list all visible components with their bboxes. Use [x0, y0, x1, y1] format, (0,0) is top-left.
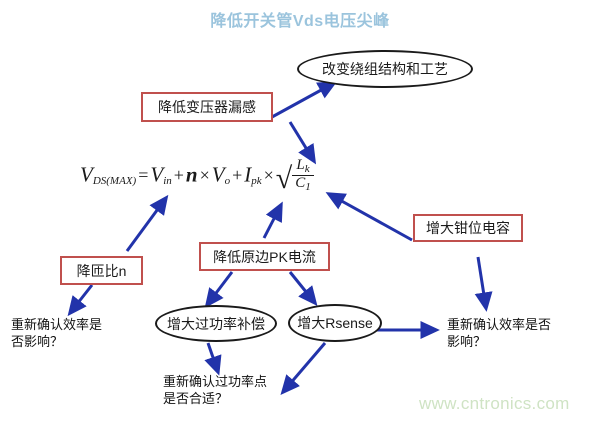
formula-term2: V: [212, 162, 225, 186]
node-increase-clamp-cap-label: 增大钳位电容: [426, 218, 510, 238]
text-recheck-efficiency-right: 重新确认效率是否影响？: [447, 316, 551, 350]
formula-term1: V: [150, 162, 163, 186]
formula-lhs-sub: DS(MAX): [93, 175, 136, 187]
arrow-clampcap-to-recheck-right: [478, 257, 486, 308]
formula-term1-sub: in: [163, 175, 172, 187]
formula-frac-numerator: Lk: [292, 158, 314, 176]
formula-term3-sub: pk: [251, 175, 261, 187]
text-recheck-opp-point: 重新确认过功率点是否合适？: [163, 373, 267, 407]
formula-fraction: LkC1: [292, 158, 314, 194]
node-increase-opp[interactable]: 增大过功率补偿: [155, 305, 277, 342]
diagram-title: 降低开关管Vds电压尖峰: [170, 8, 430, 30]
watermark: www.cntronics.com: [419, 394, 570, 414]
node-reduce-leakage-label: 降低变压器漏感: [158, 97, 256, 117]
node-reduce-leakage[interactable]: 降低变压器漏感: [141, 92, 273, 122]
formula-vds-max: VDS(MAX)=Vin+n×Vo+Ipk×√LkC1: [80, 160, 314, 196]
arrow-pk-to-ipk: [264, 205, 281, 238]
node-reduce-turns-ratio[interactable]: 降匝比n: [60, 256, 143, 285]
formula-radical-icon: √: [276, 164, 292, 194]
formula-lhs: V: [80, 162, 93, 186]
formula-times1: ×: [198, 165, 212, 185]
formula-frac-num-sub: k: [305, 163, 310, 175]
formula-equals: =: [136, 165, 150, 185]
arrow-leakage-to-winding: [272, 83, 334, 117]
arrow-pk-to-opp: [207, 272, 232, 305]
node-increase-rsense-label: 增大Rsense: [297, 313, 372, 333]
arrow-pk-to-rsense: [290, 272, 315, 303]
formula-frac-denominator: C1: [292, 176, 314, 193]
node-winding-structure[interactable]: 改变绕组结构和工艺: [297, 50, 473, 88]
formula-times2: ×: [262, 165, 276, 185]
arrow-rsense-to-recheck-point: [283, 343, 325, 392]
node-reduce-pk-current[interactable]: 降低原边PK电流: [199, 242, 330, 271]
formula-plus2: +: [230, 165, 244, 185]
formula-frac-num-symbol: L: [296, 157, 304, 173]
arrow-leakage-to-lk: [290, 122, 314, 161]
arrow-clampcap-to-c1: [329, 194, 412, 240]
formula-plus1: +: [172, 165, 186, 185]
arrow-turns-to-recheck-left: [70, 285, 92, 313]
arrow-opp-to-recheck-point: [208, 343, 218, 372]
node-reduce-turns-ratio-label: 降匝比n: [77, 261, 127, 281]
node-increase-opp-label: 增大过功率补偿: [167, 314, 265, 334]
diagram-canvas: 降低开关管Vds电压尖峰 改变绕组结构和工艺 降低变压器漏感 增大钳位电容 降低…: [0, 0, 600, 424]
formula-frac-den-sub: 1: [305, 181, 311, 193]
node-reduce-pk-current-label: 降低原边PK电流: [213, 247, 316, 267]
formula-frac-den-symbol: C: [295, 175, 305, 191]
text-recheck-efficiency-left: 重新确认效率是否影响？: [11, 316, 113, 350]
formula-n: n: [186, 162, 198, 186]
node-winding-structure-label: 改变绕组结构和工艺: [322, 59, 448, 79]
node-increase-rsense[interactable]: 增大Rsense: [288, 304, 382, 342]
arrow-turns-to-n: [127, 198, 166, 251]
node-increase-clamp-cap[interactable]: 增大钳位电容: [413, 214, 523, 242]
